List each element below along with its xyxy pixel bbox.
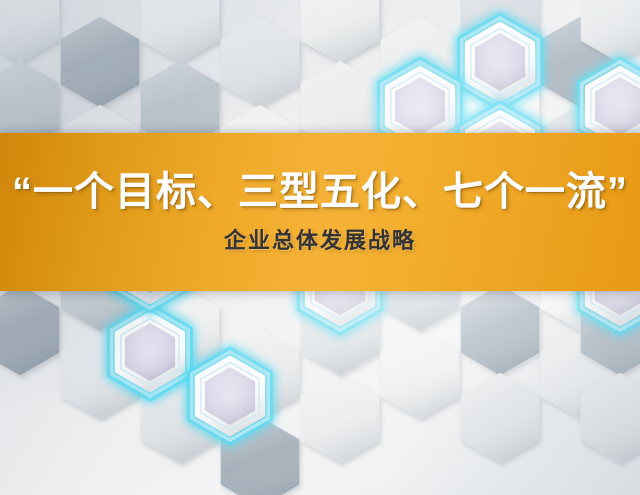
banner-subtitle: 企业总体发展战略: [224, 229, 416, 253]
title-banner: “一个目标、三型五化、七个一流” 企业总体发展战略: [0, 133, 640, 291]
slide-canvas: “一个目标、三型五化、七个一流” 企业总体发展战略: [0, 0, 640, 495]
banner-title: “一个目标、三型五化、七个一流”: [2, 171, 638, 214]
